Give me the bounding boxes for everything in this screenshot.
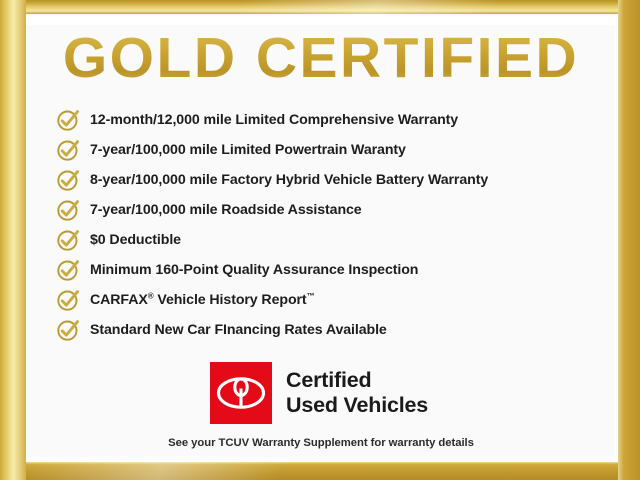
- lockup-line-1: Certified: [286, 368, 428, 393]
- trademark-mark: ™: [307, 291, 315, 300]
- check-circle-icon: [56, 108, 80, 132]
- check-circle-icon: [56, 138, 80, 162]
- gold-frame-top: [0, 0, 640, 14]
- gold-frame-right: [618, 0, 640, 480]
- list-item-label: 7-year/100,000 mile Limited Powertrain W…: [90, 142, 406, 158]
- list-item-label: CARFAX® Vehicle History Report™: [90, 292, 314, 308]
- list-item: $0 Deductible: [56, 225, 606, 255]
- list-item-label: 12-month/12,000 mile Limited Comprehensi…: [90, 112, 458, 128]
- list-item: 7-year/100,000 mile Limited Powertrain W…: [56, 135, 606, 165]
- list-item-label: $0 Deductible: [90, 232, 181, 248]
- list-item: 8-year/100,000 mile Factory Hybrid Vehic…: [56, 165, 606, 195]
- check-circle-icon: [56, 168, 80, 192]
- toyota-certified-used-vehicles-lockup: Certified Used Vehicles: [210, 362, 428, 424]
- check-circle-icon: [56, 198, 80, 222]
- list-item-label: Minimum 160-Point Quality Assurance Insp…: [90, 262, 418, 278]
- gold-frame-bottom: [0, 462, 640, 480]
- feature-list: 12-month/12,000 mile Limited Comprehensi…: [56, 105, 606, 345]
- page-title: GOLD CERTIFIED: [28, 30, 614, 87]
- toyota-logo-icon: [210, 362, 272, 424]
- list-item: 12-month/12,000 mile Limited Comprehensi…: [56, 105, 606, 135]
- gold-frame-left: [0, 0, 26, 480]
- gold-certified-badge: GOLD CERTIFIED 12-month/12,000 mile Limi…: [0, 0, 640, 480]
- footer-note: See your TCUV Warranty Supplement for wa…: [28, 437, 614, 449]
- check-circle-icon: [56, 288, 80, 312]
- lockup-text: Certified Used Vehicles: [286, 368, 428, 418]
- check-circle-icon: [56, 228, 80, 252]
- list-item-label: Standard New Car FInancing Rates Availab…: [90, 322, 387, 338]
- list-item: 7-year/100,000 mile Roadside Assistance: [56, 195, 606, 225]
- list-item: Minimum 160-Point Quality Assurance Insp…: [56, 255, 606, 285]
- registered-mark: ®: [148, 291, 154, 300]
- list-item: CARFAX® Vehicle History Report™: [56, 285, 606, 315]
- check-circle-icon: [56, 318, 80, 342]
- check-circle-icon: [56, 258, 80, 282]
- lockup-line-2: Used Vehicles: [286, 393, 428, 418]
- badge-card: GOLD CERTIFIED 12-month/12,000 mile Limi…: [28, 26, 614, 456]
- list-item: Standard New Car FInancing Rates Availab…: [56, 315, 606, 345]
- list-item-label: 8-year/100,000 mile Factory Hybrid Vehic…: [90, 172, 488, 188]
- list-item-label: 7-year/100,000 mile Roadside Assistance: [90, 202, 362, 218]
